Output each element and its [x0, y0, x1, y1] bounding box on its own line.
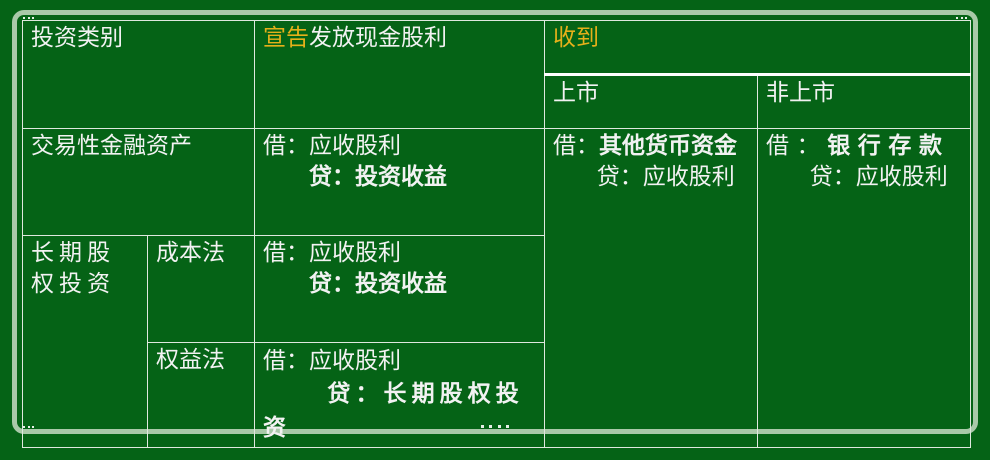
- cell-method-cost: 成本法: [148, 236, 255, 343]
- table-row: 交易性金融资产 借：应收股利 贷：投资收益 借：其他货币资金 贷：应收股利 借：…: [23, 129, 971, 236]
- header-declare-dividend: 宣告发放现金股利: [255, 21, 545, 129]
- category-line2: 权投资: [31, 269, 141, 300]
- receive-unlisted-debit-account: 银行存款: [827, 133, 949, 159]
- receive-unlisted-debit: 借：银行存款: [766, 131, 964, 162]
- receive-listed-credit: 贷：应收股利: [553, 162, 751, 193]
- entry-debit: 借：应收股利: [263, 238, 538, 269]
- cell-declare-cost-method: 借：应收股利 贷：投资收益: [255, 236, 545, 343]
- header-investment-type: 投资类别: [23, 21, 255, 129]
- receive-listed-debit: 借：其他货币资金: [553, 131, 751, 162]
- cell-category-trading-asset: 交易性金融资产: [23, 129, 255, 236]
- header-declare-rest: 发放现金股利: [309, 25, 447, 51]
- header-receive: 收到: [545, 21, 971, 75]
- accounting-table-container: 投资类别 宣告发放现金股利 收到 上市 非上市 交易性金融资产 借：应收股利 贷…: [22, 20, 970, 428]
- entry-debit: 借：应收股利: [263, 131, 538, 162]
- receive-listed-debit-account: 其他货币资金: [599, 133, 737, 159]
- subheader-listed: 上市: [545, 75, 758, 129]
- header-declare-prefix: 宣告: [263, 25, 309, 51]
- receive-unlisted-credit: 贷：应收股利: [766, 162, 964, 193]
- accounting-table: 投资类别 宣告发放现金股利 收到 上市 非上市 交易性金融资产 借：应收股利 贷…: [22, 20, 971, 448]
- subheader-unlisted: 非上市: [758, 75, 971, 129]
- entry-debit: 借：应收股利: [263, 345, 538, 378]
- cell-declare-trading-asset: 借：应收股利 贷：投资收益: [255, 129, 545, 236]
- entry-credit-line1: 贷：长期股权投: [263, 378, 538, 411]
- cell-category-long-term-equity: 长期股 权投资: [23, 236, 148, 448]
- cell-declare-equity-method: 借：应收股利 贷：长期股权投 资: [255, 343, 545, 448]
- cell-method-equity: 权益法: [148, 343, 255, 448]
- category-line1: 长期股: [31, 238, 141, 269]
- table-header-row: 投资类别 宣告发放现金股利 收到: [23, 21, 971, 75]
- entry-credit-line2: 资: [263, 412, 538, 445]
- entry-credit: 贷：投资收益: [263, 162, 538, 193]
- cell-receive-unlisted: 借：银行存款 贷：应收股利: [758, 129, 971, 448]
- cell-receive-listed: 借：其他货币资金 贷：应收股利: [545, 129, 758, 448]
- entry-credit: 贷：投资收益: [263, 269, 538, 300]
